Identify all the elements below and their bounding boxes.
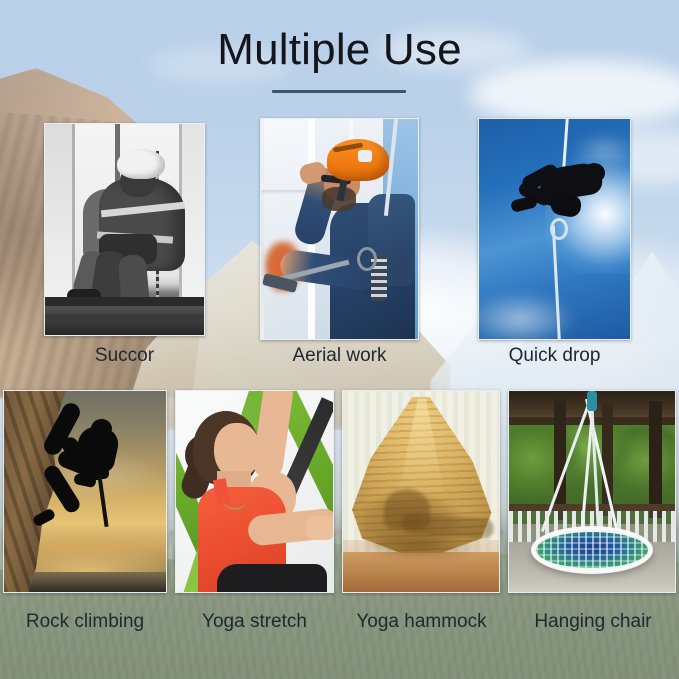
photo-succor <box>44 123 205 336</box>
photo-seat-rim <box>531 526 654 574</box>
photo-hanging-hook <box>587 391 597 411</box>
photo-post <box>649 401 662 518</box>
photo-fabric-shadow <box>359 532 484 560</box>
net-swing-chair-photo <box>509 391 675 592</box>
poster-content: Multiple Use <box>0 0 679 679</box>
photo-beam <box>45 314 204 321</box>
photo-boot <box>510 195 538 213</box>
carabiner-icon <box>357 247 377 271</box>
descender-icon <box>550 218 568 240</box>
photo-railing <box>509 504 675 511</box>
photo-quick-drop <box>478 118 631 340</box>
caption-yoga-stretch: Yoga stretch <box>175 610 334 634</box>
photo-rock-climbing <box>3 390 167 593</box>
rappelling-silhouette-photo <box>479 119 630 339</box>
yoga-silk-hammock-photo <box>343 391 499 592</box>
helmet-icon <box>117 149 165 179</box>
photo-hanging-chair <box>508 390 676 593</box>
photo-helmet-lamp <box>358 150 372 162</box>
caption-quick-drop: Quick drop <box>470 344 639 368</box>
photo-hand <box>306 516 334 540</box>
rescue-worker-photo <box>45 124 204 335</box>
photo-beam <box>45 297 204 306</box>
poster: Multiple Use <box>0 0 679 679</box>
page-title: Multiple Use <box>0 24 679 76</box>
caption-aerial-work: Aerial work <box>256 344 423 368</box>
photo-yoga-stretch <box>175 390 334 593</box>
window-cleaner-photo <box>261 119 418 339</box>
cloud-icon <box>478 291 577 340</box>
title-underline <box>272 90 406 93</box>
caption-hanging-chair: Hanging chair <box>508 610 678 634</box>
caption-yoga-hammock: Yoga hammock <box>336 610 507 634</box>
photo-yoga-hammock <box>342 390 500 593</box>
caption-rock-climbing: Rock climbing <box>2 610 168 634</box>
photo-window-left <box>45 124 75 297</box>
aerial-yoga-woman-photo <box>176 391 333 592</box>
photo-leggings <box>217 564 327 592</box>
rock-climber-silhouette-photo <box>4 391 166 592</box>
photo-post <box>554 399 566 520</box>
photo-aerial-work <box>260 118 419 340</box>
caption-succor: Succor <box>44 344 205 368</box>
